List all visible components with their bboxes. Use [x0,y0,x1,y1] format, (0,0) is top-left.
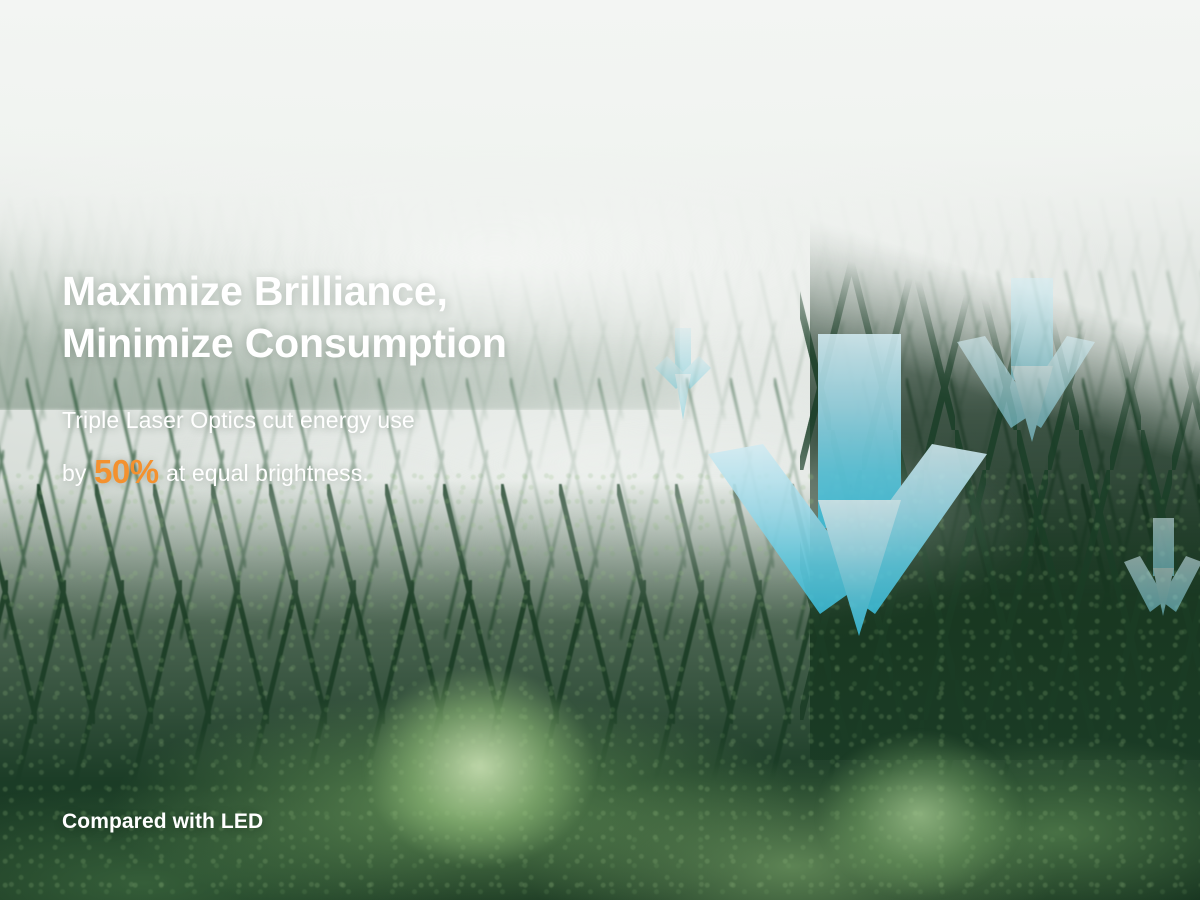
promo-banner: Maximize Brilliance, Minimize Consumptio… [0,0,1200,900]
arrow-large-center-icon [705,332,990,638]
arrow-medium-right-icon [955,276,1097,444]
arrow-small-right-icon [1124,518,1200,616]
subheading-line-2: by 50% at equal brightness. [62,442,415,502]
subheading-line-1: Triple Laser Optics cut energy use [62,400,415,442]
subheading-prefix: by [62,460,93,486]
page-title: Maximize Brilliance, Minimize Consumptio… [62,265,507,370]
energy-saving-percentage: 50% [93,453,160,490]
arrow-small-left-icon [655,328,711,420]
subheading-suffix: at equal brightness. [160,460,369,486]
footnote-comparison: Compared with LED [62,810,263,834]
subheading: Triple Laser Optics cut energy use by 50… [62,400,415,502]
